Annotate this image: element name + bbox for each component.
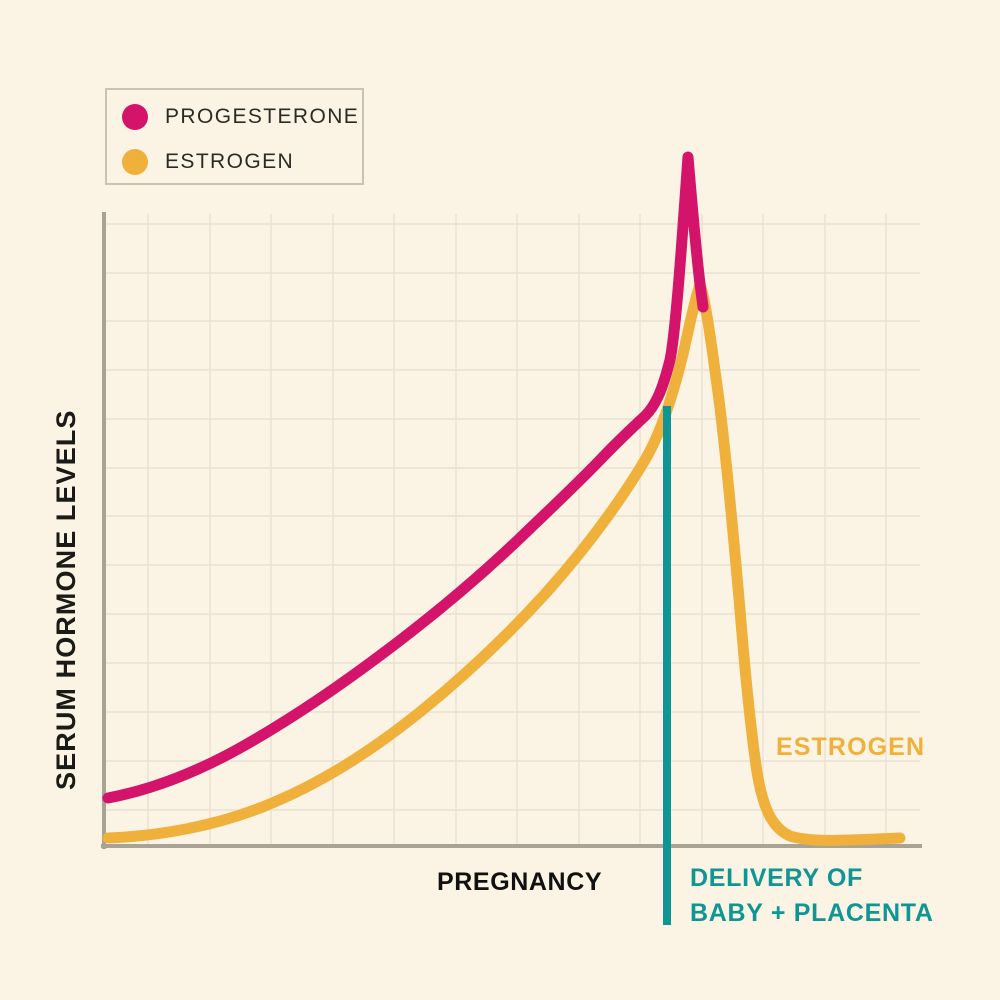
delivery-label-line-2: BABY + PLACENTA <box>690 896 934 931</box>
x-axis-label-pregnancy: PREGNANCY <box>437 868 602 897</box>
legend-item-progesterone[interactable]: PROGESTERONE <box>122 102 359 132</box>
annotation-estrogen: ESTROGEN <box>776 733 925 762</box>
y-axis-title: SERUM HORMONE LEVELS <box>44 230 88 790</box>
delivery-label-line-1: DELIVERY OF <box>690 861 934 896</box>
legend-swatch-progesterone <box>122 104 148 130</box>
legend-label-estrogen: ESTROGEN <box>165 150 294 174</box>
legend-swatch-estrogen <box>122 149 148 175</box>
x-axis-label-delivery: DELIVERY OF BABY + PLACENTA <box>690 861 934 931</box>
series-line-progesterone <box>108 157 703 798</box>
legend-label-progesterone: PROGESTERONE <box>165 105 359 129</box>
chart-legend: PROGESTERONE ESTROGEN <box>105 88 364 185</box>
chart-figure: SERUM HORMONE LEVELS PROGESTERONE ESTROG… <box>0 0 1000 1000</box>
legend-item-estrogen[interactable]: ESTROGEN <box>122 147 294 177</box>
